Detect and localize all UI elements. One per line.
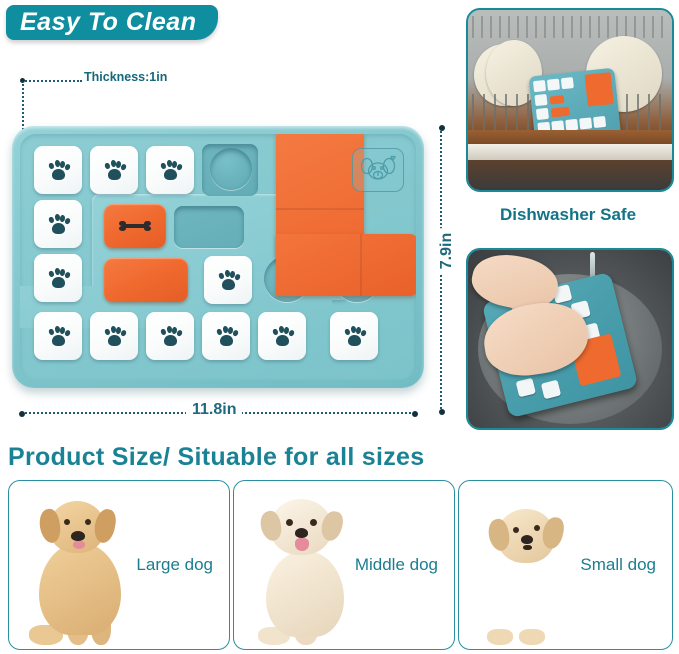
round-well [210, 148, 252, 190]
height-measure-cap-top [439, 125, 445, 131]
board-inner-surface [20, 134, 416, 380]
dishwasher-upper-rack [472, 16, 668, 38]
paw-print-icon [160, 326, 180, 346]
paw-print-icon [48, 160, 68, 180]
mini-orange-bone [550, 95, 565, 104]
dog-size-label: Large dog [136, 555, 213, 575]
paw-tile [34, 146, 82, 194]
dog-size-card-small: Small dog [458, 480, 673, 650]
thickness-leader-dot [20, 78, 25, 83]
orange-slider [104, 258, 188, 302]
dishwasher-safe-label: Dishwasher Safe [466, 205, 670, 225]
mini-paw-tile [516, 378, 536, 398]
mini-paw-tile [593, 116, 606, 128]
product-infographic: Easy To Clean Thickness:1in [0, 0, 679, 654]
thickness-leader-vertical [22, 80, 24, 130]
paw-print-icon [104, 326, 124, 346]
cross-seam [360, 234, 362, 296]
dog-size-card-middle: Middle dog [233, 480, 455, 650]
mini-paw-tile [533, 80, 546, 92]
small-fluffy-dog-image [473, 495, 585, 645]
mini-paw-tile [579, 117, 592, 129]
paw-print-icon [344, 326, 364, 346]
section-title: Product Size/ Situable for all sizes [8, 443, 424, 472]
paw-tile [34, 254, 82, 302]
mini-orange-slider [551, 107, 570, 118]
paw-print-icon [160, 160, 180, 180]
rect-well [174, 206, 244, 248]
mini-orange-cross [585, 72, 614, 107]
width-measure-cap-left [19, 411, 25, 417]
width-measure-cap-right [412, 411, 418, 417]
banner-label: Easy To Clean [20, 8, 196, 37]
mini-paw-tile [541, 380, 561, 400]
paw-tile [330, 312, 378, 360]
paw-print-icon [48, 268, 68, 288]
dishwasher-wood-panel [468, 130, 672, 144]
height-label: 7.9in [436, 228, 458, 274]
paw-tile [90, 146, 138, 194]
dog-size-card-large: Large dog [8, 480, 230, 650]
dog-face-logo-icon [352, 148, 404, 192]
paw-print-icon [216, 326, 236, 346]
dog-size-label: Small dog [580, 555, 656, 575]
golden-retriever-image [23, 495, 135, 645]
orange-cross-slider-horizontal [276, 234, 416, 296]
width-label: 11.8in [186, 401, 242, 419]
bone-icon [118, 220, 152, 232]
mini-paw-tile [534, 94, 547, 106]
paw-print-icon [48, 326, 68, 346]
mini-paw-tile [561, 77, 574, 89]
cross-seam [276, 208, 364, 210]
height-measure-cap-bottom [439, 409, 445, 415]
mini-paw-tile [536, 108, 549, 120]
sink-photo-card [466, 248, 674, 430]
paw-print-icon [104, 160, 124, 180]
mini-paw-tile [547, 79, 560, 91]
paw-print-icon [48, 214, 68, 234]
paw-tile [202, 312, 250, 360]
paw-print-icon [272, 326, 292, 346]
paw-tile [146, 312, 194, 360]
orange-bone-slider [104, 204, 166, 248]
paw-print-icon [218, 270, 238, 290]
thickness-leader-horizontal [22, 80, 82, 82]
paw-tile [34, 200, 82, 248]
dishwasher-photo-card [466, 8, 674, 192]
paw-tile [258, 312, 306, 360]
cream-puppy-image [248, 495, 360, 645]
paw-tile [34, 312, 82, 360]
thickness-label: Thickness:1in [84, 70, 167, 84]
dishwasher-door-edge [468, 144, 672, 160]
dog-size-label: Middle dog [355, 555, 438, 575]
puzzle-board [12, 126, 424, 388]
paw-tile [146, 146, 194, 194]
paw-tile [204, 256, 252, 304]
paw-tile [90, 312, 138, 360]
easy-to-clean-banner: Easy To Clean [6, 5, 218, 40]
